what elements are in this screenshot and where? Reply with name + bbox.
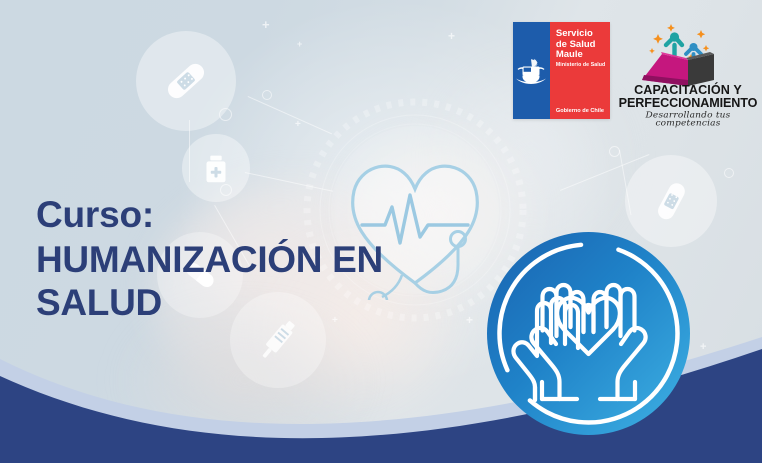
capacitacion-line-1: CAPACITACIÓN Y (618, 84, 758, 97)
medical-cross-icon: + (297, 40, 302, 49)
capacitacion-tagline: Desarrollando tus competencias (618, 112, 758, 128)
course-title: HUMANIZACIÓN EN SALUD (36, 238, 466, 325)
book-with-people-icon (618, 18, 758, 88)
govt-line-3: Maule (556, 50, 605, 61)
medicine-bottle-icon (182, 134, 250, 202)
govt-country-label: Gobierno de Chile (556, 108, 604, 114)
node-dot-icon (724, 168, 734, 178)
node-dot-icon (609, 146, 620, 157)
capacitacion-logo-text: CAPACITACIÓN Y PERFECCIONAMIENTO Desarro… (618, 84, 758, 129)
node-dot-icon (262, 90, 272, 100)
govt-logo-text: Servicio de Salud Maule Ministerio de Sa… (556, 29, 605, 69)
medical-cross-icon: + (448, 30, 455, 42)
govt-flag-blue-panel (513, 22, 550, 119)
logo-capacitacion-perfeccionamiento: CAPACITACIÓN Y PERFECCIONAMIENTO Desarro… (618, 18, 758, 128)
page-title: Curso: HUMANIZACIÓN EN SALUD (36, 196, 466, 325)
medical-cross-icon: + (295, 120, 301, 130)
medical-cross-icon: + (262, 18, 270, 31)
title-prefix: Curso: (36, 196, 466, 234)
chile-coat-of-arms-icon (514, 56, 548, 86)
capacitacion-line-2: PERFECCIONAMIENTO (618, 97, 758, 110)
node-dot-icon (220, 184, 232, 196)
course-banner: + + + + + + + Curso: HUMANIZACIÓN EN SAL… (0, 0, 762, 463)
govt-ministry-label: Ministerio de Salud (556, 63, 605, 69)
node-dot-icon (219, 108, 232, 121)
logo-servicio-salud-maule: Servicio de Salud Maule Ministerio de Sa… (513, 22, 610, 119)
hands-holding-heart-icon (487, 232, 690, 435)
govt-flag-red-panel: Servicio de Salud Maule Ministerio de Sa… (550, 22, 610, 119)
